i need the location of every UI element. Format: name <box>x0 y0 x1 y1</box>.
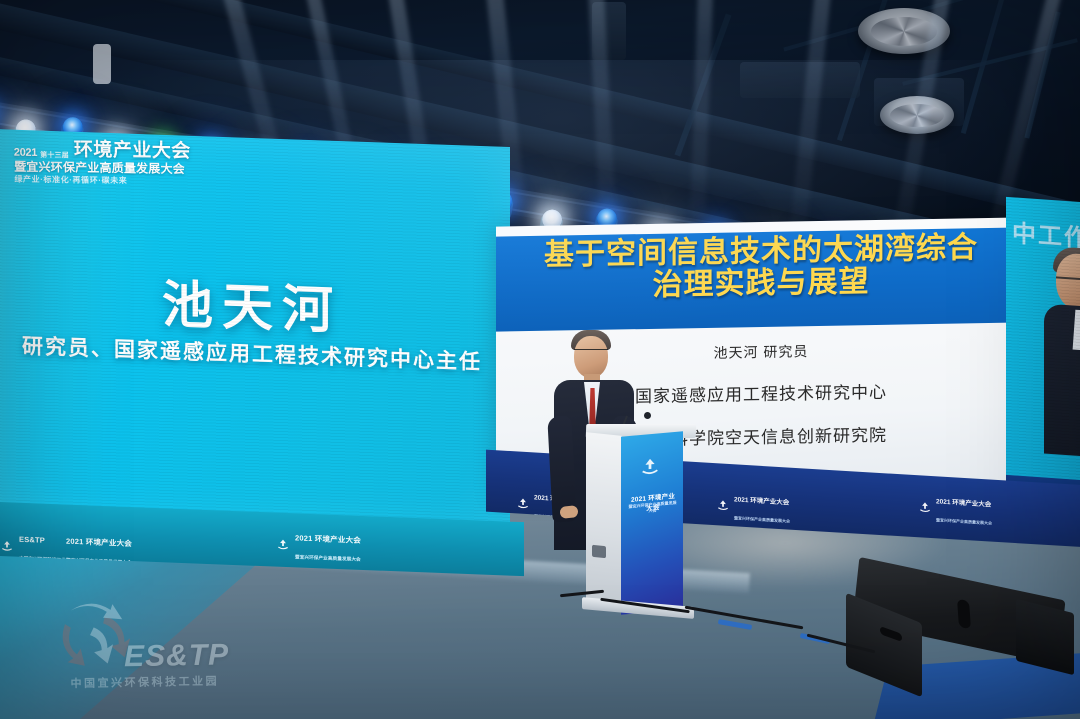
skirt-banner-line2: 暨宜兴环保产业高质量发展大会 <box>295 555 361 563</box>
monitor-handle <box>957 599 971 629</box>
monitor-side-panel <box>1016 599 1074 675</box>
ceiling-fan-icon <box>858 8 950 54</box>
stage-skirt-logo-line1: 2021 环境产业大会 <box>734 496 789 506</box>
ceiling-fan-icon <box>880 96 954 134</box>
conference-logo-ordinal: 第十三届 <box>40 152 69 159</box>
feed-shirt <box>1073 310 1080 351</box>
estp-mark-icon <box>716 498 730 513</box>
estp-mark-icon <box>918 500 932 515</box>
stage-monitor-speaker <box>846 578 1080 690</box>
glasses-icon <box>574 349 608 357</box>
feed-head <box>1056 252 1080 311</box>
conference-logo-subtitle: 暨宜兴环保产业高质量发展大会 <box>14 161 204 176</box>
podium-side-panel <box>586 432 622 604</box>
conference-stage-photo: 2021 第十三届 环境产业大会 暨宜兴环保产业高质量发展大会 绿产业·标准化·… <box>0 0 1080 719</box>
conference-logo-tagline: 绿产业·标准化·再循环·碳未来 <box>14 176 204 187</box>
skirt-banner-line1: 2021 环境产业大会 <box>66 537 132 549</box>
feed-body <box>1044 304 1080 459</box>
stage-skirt-logo-line2: 暨宜兴环保产业高质量发展大会 <box>936 517 992 525</box>
estp-watermark: ES&TP 中国宜兴环保科技工业园 <box>47 596 229 703</box>
live-camera-feed <box>1050 252 1080 457</box>
feed-hair <box>1053 246 1080 276</box>
estp-mark-icon <box>516 496 530 511</box>
speaker-head <box>574 336 608 378</box>
estp-mark-icon <box>276 538 290 553</box>
estp-mark-icon <box>639 455 661 479</box>
watermark-chinese: 中国宜兴环保科技工业园 <box>70 673 219 692</box>
skirt-banner-line1: 2021 环境产业大会 <box>295 533 361 545</box>
podium-control-plate <box>592 545 606 558</box>
conference-logo: 2021 第十三届 环境产业大会 暨宜兴环保产业高质量发展大会 绿产业·标准化·… <box>14 140 205 187</box>
watermark-brand: ES&TP <box>124 638 230 674</box>
estp-brand-label: ES&TP <box>19 535 45 545</box>
podium-front-panel: 2021 环境产业大会 暨宜兴环保产业高质量发展大会 <box>621 431 683 614</box>
stage-skirt-logo-line1: 2021 环境产业大会 <box>936 498 991 508</box>
estp-mark-icon <box>0 539 14 554</box>
right-wall-partial-text: 中工作 <box>1012 213 1080 253</box>
glasses-icon <box>1056 276 1080 288</box>
left-led-wall: 2021 第十三届 环境产业大会 暨宜兴环保产业高质量发展大会 绿产业·标准化·… <box>0 129 510 539</box>
stage-skirt-logo-line2: 暨宜兴环保产业高质量发展大会 <box>734 515 790 523</box>
microphone-icon <box>644 412 651 419</box>
right-led-wall: 中工作 <box>1006 197 1080 503</box>
lectern-podium: 2021 环境产业大会 暨宜兴环保产业高质量发展大会 <box>586 424 696 614</box>
slide-title: 基于空间信息技术的太湖湾综合 治理实践与展望 <box>496 231 1026 305</box>
conference-logo-main: 环境产业大会 <box>74 141 191 162</box>
conference-logo-year: 2021 <box>14 148 38 159</box>
